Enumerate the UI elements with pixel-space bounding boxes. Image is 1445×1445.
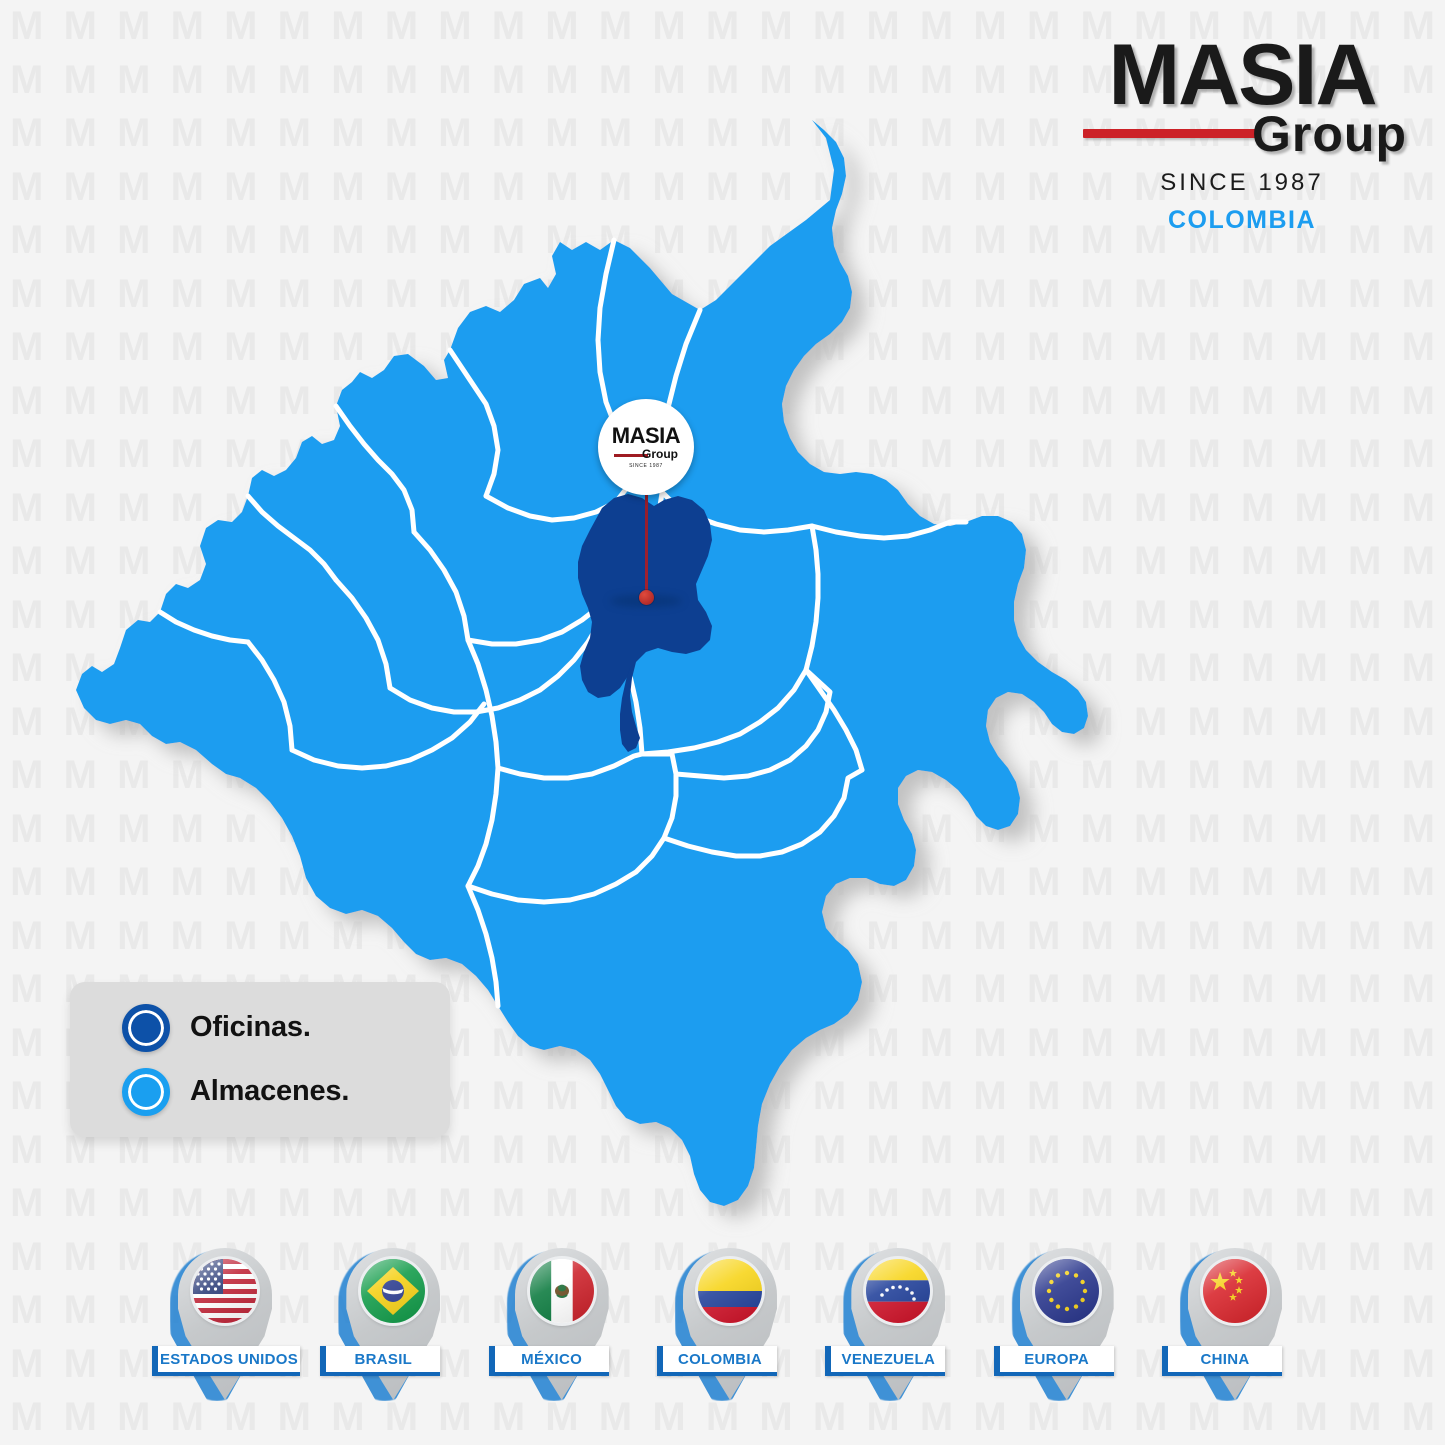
watermark-letter: M — [1284, 642, 1338, 696]
watermark-letter: M — [1284, 1070, 1338, 1124]
watermark-letter: M — [482, 0, 536, 54]
watermark-letter: M — [1284, 375, 1338, 429]
pin-label-text: VENEZUELA — [836, 1351, 942, 1368]
watermark-letter: M — [1391, 856, 1445, 910]
flag-europe-icon — [1035, 1259, 1099, 1323]
watermark-letter: M — [428, 0, 482, 54]
country-pin-estados-unidos[interactable]: ESTADOS UNIDOS — [150, 1243, 300, 1418]
watermark-letter: M — [54, 1284, 108, 1338]
pin-label-china[interactable]: CHINA — [1162, 1346, 1282, 1376]
watermark-letter: M — [1177, 375, 1231, 429]
watermark-letter: M — [1177, 428, 1231, 482]
watermark-letter: M — [1391, 428, 1445, 482]
watermark-letter: M — [1177, 856, 1231, 910]
watermark-letter: M — [1338, 428, 1392, 482]
watermark-letter: M — [1231, 589, 1285, 643]
watermark-letter: M — [1177, 321, 1231, 375]
watermark-letter: M — [1338, 482, 1392, 536]
watermark-letter: M — [1391, 696, 1445, 750]
country-pin-venezuela[interactable]: VENEZUELA — [823, 1243, 973, 1418]
watermark-letter: M — [1284, 1124, 1338, 1178]
country-pins-row: ESTADOS UNIDOS BRASIL — [150, 1243, 1310, 1418]
watermark-letter: M — [1391, 1124, 1445, 1178]
marker-logo-badge[interactable]: MASIA Group SINCE 1987 — [598, 399, 694, 495]
watermark-letter: M — [1177, 749, 1231, 803]
watermark-letter: M — [1391, 1284, 1445, 1338]
watermark-letter: M — [1284, 749, 1338, 803]
flag-venezuela-icon — [866, 1259, 930, 1323]
watermark-letter: M — [1391, 1231, 1445, 1285]
flag-brazil-icon — [361, 1259, 425, 1323]
pin-label-text: ESTADOS UNIDOS — [154, 1351, 304, 1368]
marker-badge-group-row: Group — [614, 448, 678, 462]
watermark-letter: M — [1284, 589, 1338, 643]
marker-badge-since: SINCE 1987 — [629, 463, 663, 469]
watermark-letter: M — [803, 0, 857, 54]
pin-label-europa[interactable]: EUROPA — [994, 1346, 1114, 1376]
watermark-letter: M — [1231, 375, 1285, 429]
country-pin-europa[interactable]: EUROPA — [992, 1243, 1142, 1418]
watermark-letter: M — [0, 1284, 54, 1338]
flag-colombia-icon — [698, 1259, 762, 1323]
watermark-letter: M — [589, 0, 643, 54]
watermark-letter: M — [1338, 321, 1392, 375]
map-marker-bogota[interactable]: MASIA Group SINCE 1987 — [598, 399, 694, 609]
watermark-letter: M — [1338, 749, 1392, 803]
watermark-letter: M — [1231, 1017, 1285, 1071]
watermark-letter: M — [1231, 749, 1285, 803]
watermark-letter: M — [1231, 803, 1285, 857]
watermark-letter: M — [1284, 963, 1338, 1017]
pin-label-text: CHINA — [1194, 1351, 1255, 1368]
watermark-letter: M — [1391, 642, 1445, 696]
watermark-letter: M — [1177, 696, 1231, 750]
watermark-letter: M — [1338, 1017, 1392, 1071]
legend-label-oficinas: Oficinas. — [190, 1011, 311, 1044]
watermark-letter: M — [1284, 910, 1338, 964]
watermark-letter: M — [1338, 535, 1392, 589]
watermark-letter: M — [1338, 375, 1392, 429]
watermark-letter: M — [1338, 1070, 1392, 1124]
watermark-letter: M — [1338, 268, 1392, 322]
watermark-letter: M — [1177, 1070, 1231, 1124]
watermark-letter: M — [1391, 749, 1445, 803]
watermark-letter: M — [1177, 1017, 1231, 1071]
watermark-letter: M — [1177, 589, 1231, 643]
watermark-letter: M — [1391, 268, 1445, 322]
watermark-letter: M — [1391, 1391, 1445, 1445]
watermark-letter: M — [1231, 1124, 1285, 1178]
watermark-letter: M — [535, 0, 589, 54]
watermark-letter: M — [1231, 482, 1285, 536]
watermark-letter: M — [1391, 589, 1445, 643]
watermark-letter: M — [1231, 910, 1285, 964]
watermark-letter: M — [1231, 321, 1285, 375]
watermark-letter: M — [1177, 963, 1231, 1017]
watermark-letter: M — [1284, 428, 1338, 482]
country-pin-mexico[interactable]: MÉXICO — [487, 1243, 637, 1418]
watermark-letter: M — [1338, 1338, 1392, 1392]
legend-label-almacenes: Almacenes. — [190, 1075, 349, 1108]
watermark-letter: M — [1391, 1177, 1445, 1231]
watermark-letter: M — [1284, 696, 1338, 750]
watermark-letter: M — [321, 0, 375, 54]
watermark-letter: M — [1177, 482, 1231, 536]
watermark-letter: M — [1338, 856, 1392, 910]
watermark-letter: M — [1231, 1070, 1285, 1124]
watermark-letter: M — [1391, 321, 1445, 375]
watermark-letter: M — [1231, 963, 1285, 1017]
watermark-letter: M — [1338, 1284, 1392, 1338]
pin-label-mexico[interactable]: MÉXICO — [489, 1346, 609, 1376]
watermark-letter: M — [1231, 696, 1285, 750]
watermark-letter: M — [1391, 803, 1445, 857]
watermark-letter: M — [268, 0, 322, 54]
watermark-letter: M — [1338, 1391, 1392, 1445]
watermark-letter: M — [1391, 1017, 1445, 1071]
marker-dot — [639, 590, 654, 605]
watermark-letter: M — [1391, 910, 1445, 964]
flag-china-icon — [1203, 1259, 1267, 1323]
pin-label-text: MÉXICO — [515, 1351, 588, 1368]
watermark-letter: M — [0, 1391, 54, 1445]
watermark-letter: M — [1338, 589, 1392, 643]
watermark-letter: M — [1177, 803, 1231, 857]
pin-label-colombia[interactable]: COLOMBIA — [657, 1346, 777, 1376]
watermark-letter: M — [1391, 1070, 1445, 1124]
flag-usa-icon — [193, 1259, 257, 1323]
watermark-letter: M — [1284, 535, 1338, 589]
pin-label-brasil[interactable]: BRASIL — [320, 1346, 440, 1376]
watermark-letter: M — [1284, 482, 1338, 536]
watermark-letter: M — [54, 1391, 108, 1445]
watermark-letter: M — [749, 0, 803, 54]
country-pin-colombia[interactable]: COLOMBIA — [655, 1243, 805, 1418]
pin-label-text: EUROPA — [1018, 1351, 1095, 1368]
legend-dot-oficinas — [122, 1004, 170, 1052]
watermark-letter: M — [1338, 963, 1392, 1017]
pin-label-text: COLOMBIA — [672, 1351, 768, 1368]
watermark-letter: M — [1391, 375, 1445, 429]
watermark-letter: M — [1177, 1177, 1231, 1231]
watermark-letter: M — [1338, 910, 1392, 964]
watermark-letter: M — [1177, 910, 1231, 964]
watermark-letter: M — [1338, 1124, 1392, 1178]
watermark-letter: M — [910, 0, 964, 54]
country-pin-china[interactable]: CHINA — [1160, 1243, 1310, 1418]
watermark-letter: M — [54, 1338, 108, 1392]
watermark-letter: M — [1231, 428, 1285, 482]
legend-dot-almacenes — [122, 1068, 170, 1116]
legend-item-oficinas[interactable]: Oficinas. — [122, 1004, 450, 1052]
map-legend: Oficinas. Almacenes. — [70, 982, 450, 1137]
watermark-letter: M — [1284, 1177, 1338, 1231]
watermark-letter: M — [1284, 856, 1338, 910]
watermark-letter: M — [214, 0, 268, 54]
watermark-letter: M — [0, 1338, 54, 1392]
watermark-letter: M — [1177, 642, 1231, 696]
watermark-letter: M — [161, 0, 215, 54]
watermark-letter: M — [642, 0, 696, 54]
watermark-letter: M — [1231, 642, 1285, 696]
watermark-letter: M — [0, 0, 54, 54]
watermark-letter: M — [1338, 696, 1392, 750]
flag-mexico-icon — [530, 1259, 594, 1323]
watermark-letter: M — [1338, 1231, 1392, 1285]
logo-group-text: Group — [1252, 105, 1407, 163]
watermark-letter: M — [1284, 268, 1338, 322]
watermark-letter: M — [1391, 482, 1445, 536]
pin-label-venezuela[interactable]: VENEZUELA — [825, 1346, 945, 1376]
watermark-letter: M — [54, 0, 108, 54]
watermark-letter: M — [1231, 535, 1285, 589]
watermark-letter: M — [963, 0, 1017, 54]
legend-item-almacenes[interactable]: Almacenes. — [122, 1068, 450, 1116]
watermark-letter: M — [1338, 642, 1392, 696]
watermark-letter: M — [1391, 963, 1445, 1017]
watermark-letter: M — [696, 0, 750, 54]
watermark-letter: M — [1177, 1124, 1231, 1178]
watermark-letter: M — [107, 0, 161, 54]
watermark-letter: M — [1017, 0, 1071, 54]
pin-label-estados-unidos[interactable]: ESTADOS UNIDOS — [152, 1346, 300, 1376]
watermark-letter: M — [1338, 1177, 1392, 1231]
marker-badge-masia: MASIA — [612, 425, 680, 447]
watermark-letter: M — [1231, 1177, 1285, 1231]
watermark-letter: M — [1391, 535, 1445, 589]
country-pin-brasil[interactable]: BRASIL — [318, 1243, 468, 1418]
watermark-letter: M — [1177, 535, 1231, 589]
watermark-letter: M — [1391, 1338, 1445, 1392]
watermark-letter: M — [1338, 803, 1392, 857]
marker-badge-group: Group — [642, 447, 678, 461]
watermark-letter: M — [856, 0, 910, 54]
watermark-letter: M — [375, 0, 429, 54]
pin-label-text: BRASIL — [349, 1351, 419, 1368]
watermark-letter: M — [1284, 803, 1338, 857]
watermark-letter: M — [1284, 1017, 1338, 1071]
watermark-letter: M — [1231, 856, 1285, 910]
watermark-letter: M — [1231, 268, 1285, 322]
watermark-letter: M — [1177, 268, 1231, 322]
watermark-letter: M — [1284, 321, 1338, 375]
